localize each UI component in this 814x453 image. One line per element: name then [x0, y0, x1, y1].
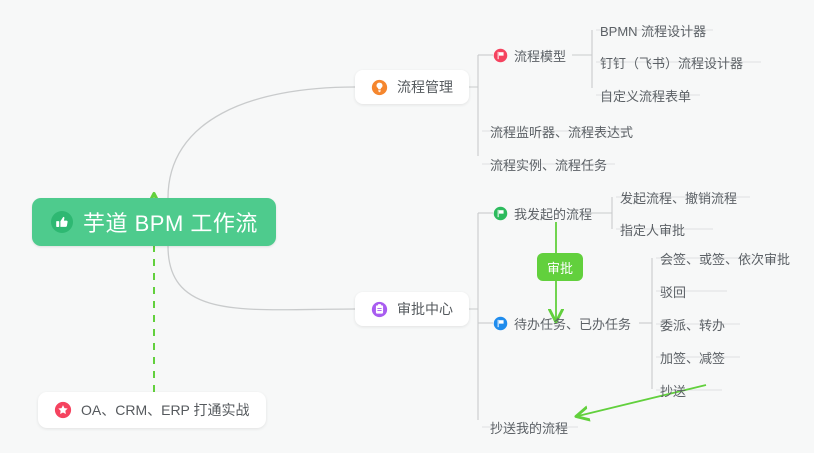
node-label: 自定义流程表单 — [600, 86, 691, 105]
node-reject[interactable]: 驳回 — [656, 277, 692, 305]
node-label: 流程监听器、流程表达式 — [490, 122, 633, 141]
node-label: 加签、减签 — [660, 348, 725, 367]
node-label: 发起流程、撤销流程 — [620, 188, 737, 207]
node-label: 驳回 — [660, 282, 686, 301]
node-cc-to-me-processes[interactable]: 抄送我的流程 — [486, 413, 574, 441]
flag-icon — [493, 316, 508, 331]
branch-process-management[interactable]: 流程管理 — [355, 70, 469, 104]
node-label: 钉钉（飞书）流程设计器 — [600, 53, 743, 72]
node-label: 待办任务、已办任务 — [514, 314, 631, 333]
node-process-instance-task[interactable]: 流程实例、流程任务 — [486, 150, 613, 178]
node-delegate-transfer[interactable]: 委派、转办 — [656, 310, 731, 338]
node-label: 抄送我的流程 — [490, 418, 568, 437]
node-label: BPMN 流程设计器 — [600, 21, 706, 40]
thumbs-up-icon — [50, 210, 74, 234]
clipboard-icon — [371, 301, 388, 318]
node-custom-process-form[interactable]: 自定义流程表单 — [596, 81, 697, 109]
node-add-remove-sign[interactable]: 加签、减签 — [656, 343, 731, 371]
branch-label: 审批中心 — [397, 299, 453, 319]
annotation-label: OA、CRM、ERP 打通实战 — [81, 400, 250, 420]
node-launch-cancel-process[interactable]: 发起流程、撤销流程 — [616, 183, 743, 211]
node-countersign-or-sequential[interactable]: 会签、或签、依次审批 — [656, 244, 796, 272]
root-label: 芋道 BPM 工作流 — [83, 206, 258, 238]
node-label: 会签、或签、依次审批 — [660, 249, 790, 268]
annotation-approval-pill[interactable]: 审批 — [537, 253, 583, 281]
node-assignee-approval[interactable]: 指定人审批 — [616, 215, 691, 243]
star-icon — [54, 401, 72, 419]
node-cc[interactable]: 抄送 — [656, 376, 692, 404]
annotation-integration-note[interactable]: OA、CRM、ERP 打通实战 — [38, 392, 266, 428]
link-root-to-approval-center — [168, 246, 355, 310]
node-bpmn-designer[interactable]: BPMN 流程设计器 — [596, 16, 712, 44]
node-process-listener-expression[interactable]: 流程监听器、流程表达式 — [486, 117, 639, 145]
node-label: 指定人审批 — [620, 220, 685, 239]
flag-icon — [493, 206, 508, 221]
node-todo-done-tasks[interactable]: 待办任务、已办任务 — [491, 309, 637, 337]
node-dingtalk-feishu-designer[interactable]: 钉钉（飞书）流程设计器 — [596, 48, 749, 76]
node-label: 流程实例、流程任务 — [490, 155, 607, 174]
flag-icon — [493, 48, 508, 63]
node-label: 委派、转办 — [660, 315, 725, 334]
link-root-to-process-management — [168, 87, 355, 198]
lightbulb-icon — [371, 79, 388, 96]
annotation-label: 审批 — [547, 258, 573, 277]
root-node[interactable]: 芋道 BPM 工作流 — [32, 198, 276, 246]
mindmap-canvas: 芋道 BPM 工作流 流程管理 流程模型 BPMN 流程设计器 钉钉（飞书）流程 — [0, 0, 814, 453]
node-label: 我发起的流程 — [514, 204, 592, 223]
branch-label: 流程管理 — [397, 77, 453, 97]
node-process-model[interactable]: 流程模型 — [491, 41, 572, 69]
node-label: 抄送 — [660, 381, 686, 400]
branch-approval-center[interactable]: 审批中心 — [355, 292, 469, 326]
node-my-started-processes[interactable]: 我发起的流程 — [491, 199, 598, 227]
node-label: 流程模型 — [514, 46, 566, 65]
